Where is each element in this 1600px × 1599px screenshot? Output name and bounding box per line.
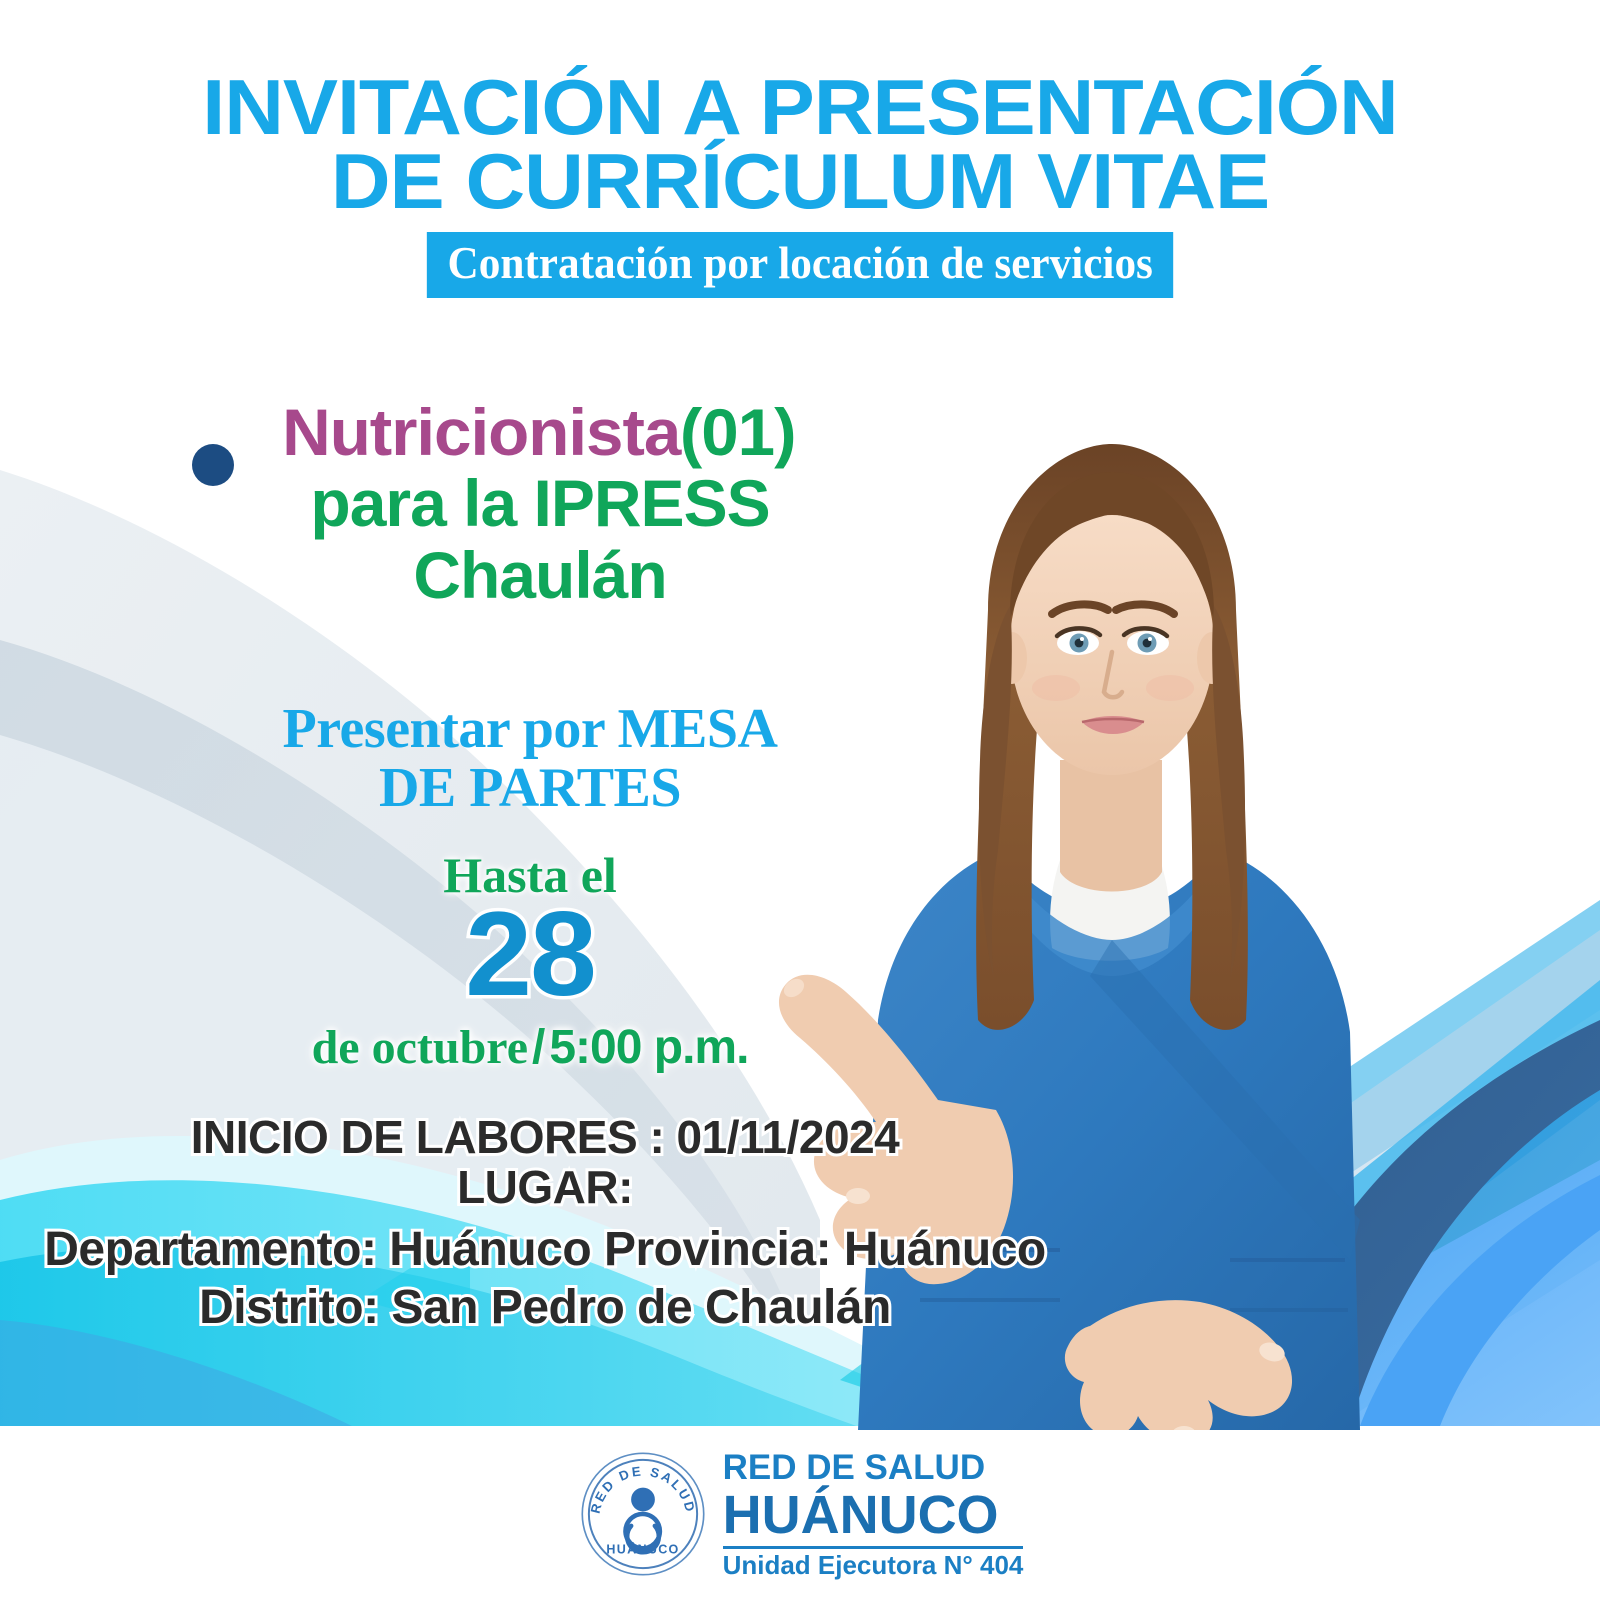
submission-line-2: DE PARTES — [150, 759, 910, 818]
wordmark-rule — [723, 1546, 1024, 1549]
submission-line-1: Presentar por MESA — [150, 700, 910, 759]
footer-logo: RED DE SALUD HUÁNUCO RED DE SALUD HUÁNUC… — [0, 1448, 1600, 1580]
job-facility-line-2: Chaulán — [130, 541, 950, 611]
subtitle-banner: Contratación por locación de servicios — [427, 232, 1174, 298]
wordmark-line-2: HUÁNUCO — [723, 1488, 999, 1542]
job-facility-line-1: para la IPRESS — [130, 469, 950, 539]
place-label: LUGAR: — [0, 1162, 1090, 1214]
job-vacancies-label: (01) — [680, 398, 796, 467]
circular-seal-icon: RED DE SALUD HUÁNUCO — [577, 1448, 709, 1580]
wordmark-line-3: Unidad Ejecutora N° 404 — [723, 1552, 1024, 1578]
location-line: Departamento: Huánuco Provincia: Huánuco — [0, 1223, 1090, 1277]
logo-wordmark: RED DE SALUD HUÁNUCO Unidad Ejecutora N°… — [723, 1450, 1024, 1578]
deadline-date-line: de octubre/5:00 p.m. — [150, 1020, 910, 1075]
title-line-2: DE CURRÍCULUM VITAE — [0, 144, 1600, 218]
wordmark-line-1: RED DE SALUD — [723, 1450, 986, 1485]
submission-instruction: Presentar por MESA DE PARTES — [150, 700, 910, 819]
poster-header: INVITACIÓN A PRESENTACIÓN DE CURRÍCULUM … — [0, 70, 1600, 298]
bullet-dot-icon — [192, 444, 234, 486]
deadline-day: 28 — [150, 894, 910, 1014]
deadline-month: de octubre — [312, 1021, 528, 1074]
seal-bottom-text: HUÁNUCO — [606, 1542, 679, 1557]
title-line-1: INVITACIÓN A PRESENTACIÓN — [0, 70, 1600, 144]
job-listing: Nutricionista (01) para la IPRESS Chaulá… — [130, 398, 950, 611]
deadline-separator: / — [528, 1021, 549, 1074]
deadline-time: 5:00 p.m. — [549, 1021, 748, 1074]
district-line: Distrito: San Pedro de Chaulán — [0, 1281, 1090, 1335]
job-position-label: Nutricionista — [282, 398, 680, 467]
deadline-block: Hasta el 28 de octubre/5:00 p.m. — [150, 850, 910, 1075]
start-date-line: INICIO DE LABORES : 01/11/2024 — [0, 1112, 1090, 1164]
details-block: INICIO DE LABORES : 01/11/2024 LUGAR: De… — [0, 1112, 1090, 1335]
